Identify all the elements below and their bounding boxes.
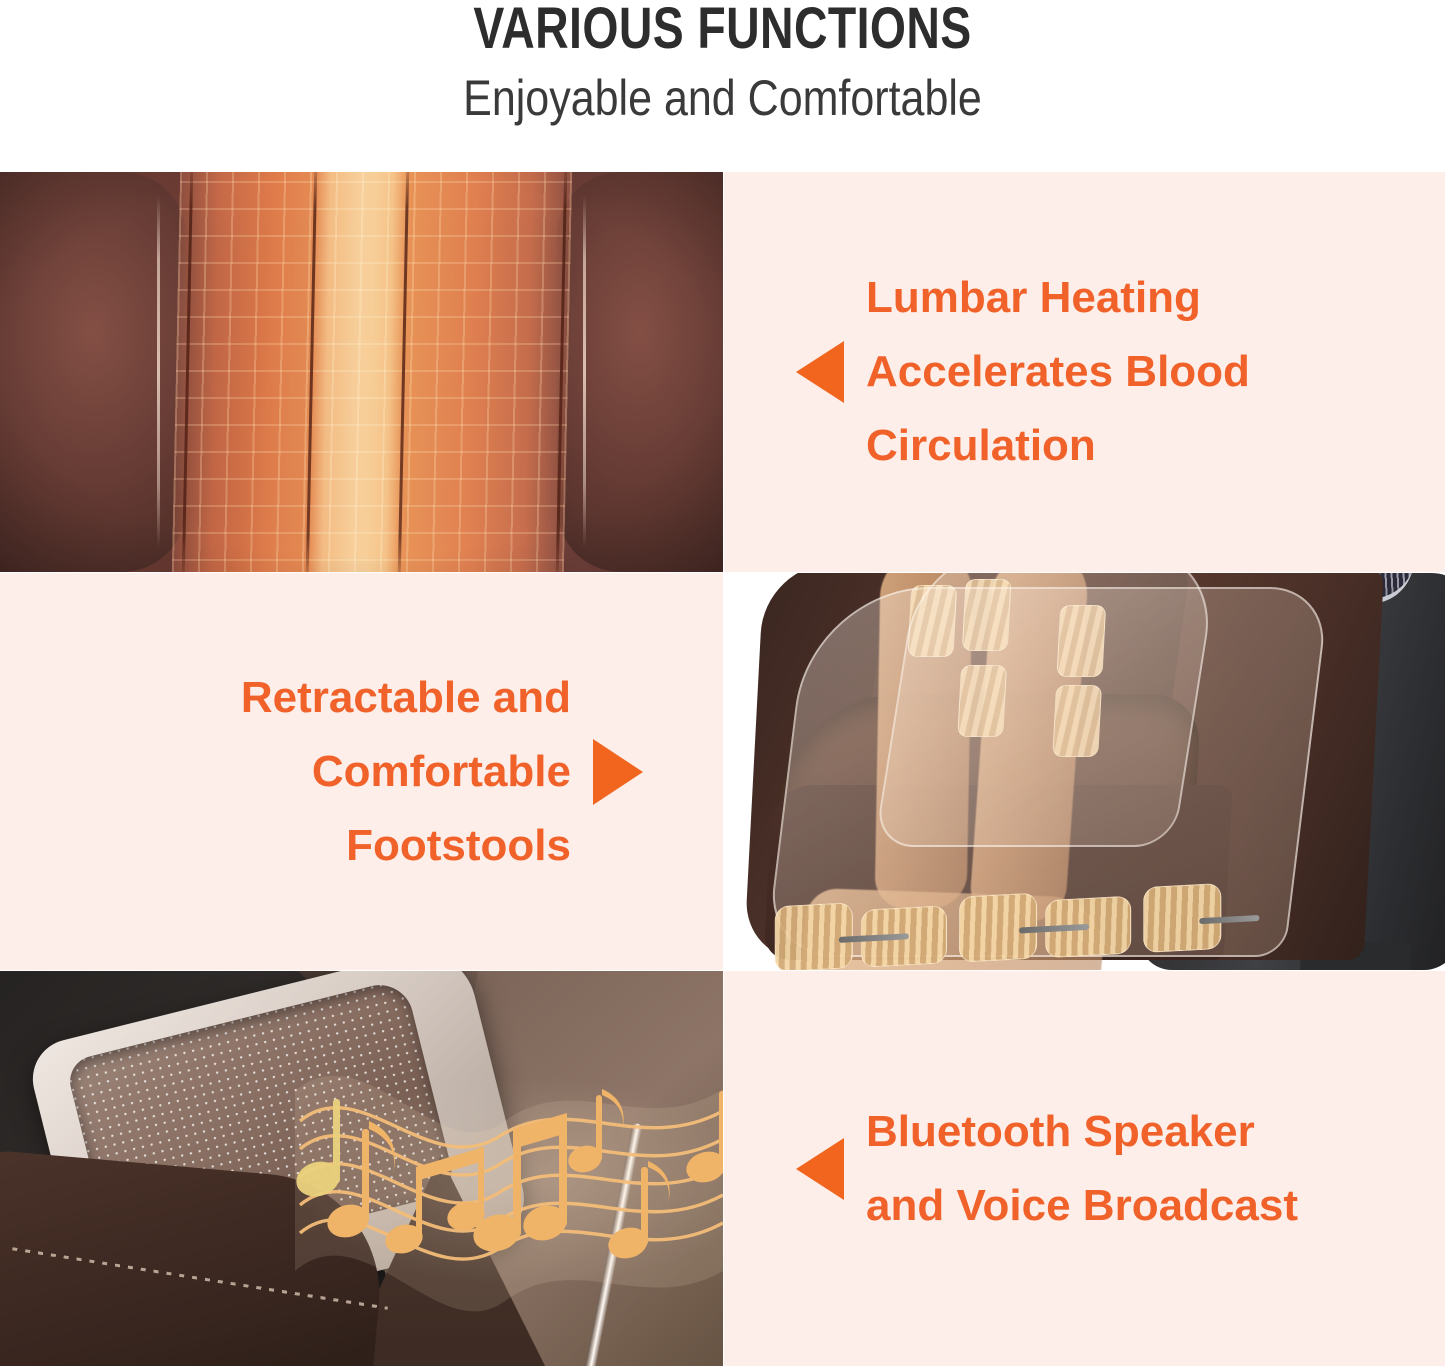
music-notes-icon [0,971,723,1366]
page-subtitle: Enjoyable and Comfortable [101,70,1344,126]
footstools-text-panel: Retractable and Comfortable Footstools [0,573,723,970]
bluetooth-speaker-text-panel: Bluetooth Speaker and Voice Broadcast [724,971,1445,1366]
translucent-calf-overlay [874,573,1221,847]
caption-line: Lumbar Heating [866,261,1250,335]
footstool-image [724,573,1445,970]
footrest-body [744,573,1385,960]
triangle-left-icon [796,341,844,403]
caption-line: Retractable and [241,661,571,735]
speaker-image [0,971,723,1366]
heating-image [0,172,723,572]
triangle-left-icon [796,1138,844,1200]
bluetooth-speaker-caption: Bluetooth Speaker and Voice Broadcast [866,1095,1298,1243]
vertical-gutter [723,172,724,1366]
caption-line: and Voice Broadcast [866,1169,1298,1243]
footstools-caption: Retractable and Comfortable Footstools [241,661,571,883]
caption-line: Accelerates Blood [866,335,1250,409]
header: VARIOUS FUNCTIONS Enjoyable and Comforta… [0,0,1445,172]
page-title: VARIOUS FUNCTIONS [145,0,1301,60]
lumbar-heating-photo [0,172,723,572]
bluetooth-speaker-photo [0,971,723,1366]
caption-line: Comfortable [241,735,571,809]
footstools-photo [724,573,1445,970]
caption-line: Footstools [241,809,571,883]
horizontal-gutter [0,572,1445,573]
lumbar-heating-text-panel: Lumbar Heating Accelerates Blood Circula… [724,172,1445,572]
music-wave-overlay [0,971,723,1366]
caption-line: Bluetooth Speaker [866,1095,1298,1169]
horizontal-gutter [0,970,1445,971]
infographic-page: VARIOUS FUNCTIONS Enjoyable and Comforta… [0,0,1445,1366]
lumbar-heating-caption: Lumbar Heating Accelerates Blood Circula… [866,261,1250,483]
triangle-right-icon [593,739,643,805]
caption-line: Circulation [866,409,1250,483]
vignette-overlay [0,172,723,572]
